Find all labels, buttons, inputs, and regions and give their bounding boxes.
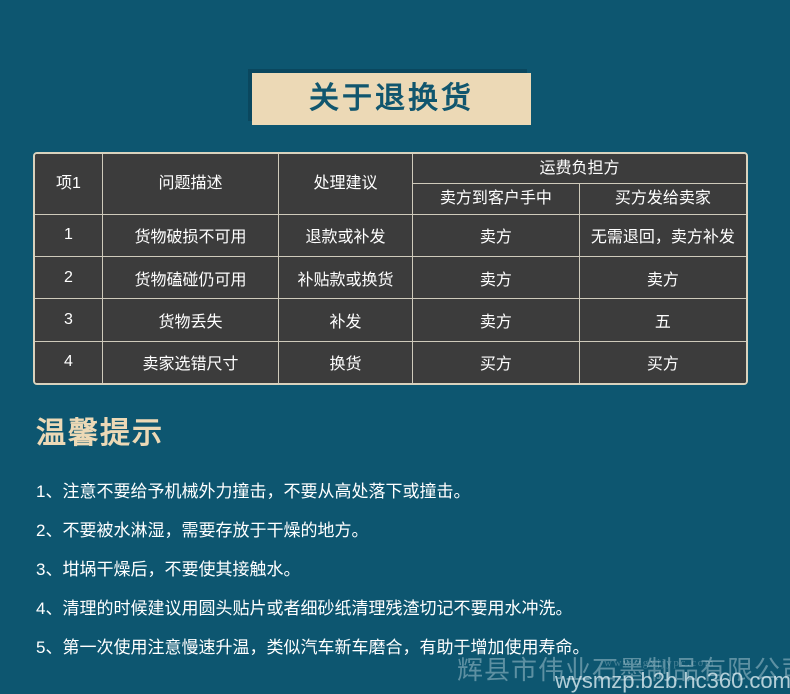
header-freight-responsibility: 运费负担方 [413, 154, 747, 184]
cell-freight-seller-to-customer: 卖方 [413, 299, 580, 341]
cell-problem: 卖家选错尺寸 [103, 341, 279, 383]
cell-index: 2 [35, 256, 103, 298]
tip-item: 4、清理的时候建议用圆头贴片或者细砂纸清理残渣切记不要用水冲洗。 [36, 589, 766, 628]
cell-problem: 货物丢失 [103, 299, 279, 341]
cell-index: 1 [35, 214, 103, 256]
tips-heading: 温馨提示 [36, 408, 164, 452]
tip-item: 5、第一次使用注意慢速升温，类似汽车新车磨合，有助于增加使用寿命。 [36, 628, 766, 667]
header-seller-to-customer: 卖方到客户手中 [413, 184, 580, 214]
page-title-banner: 关于退换货 [252, 73, 531, 125]
returns-policy-table: 项1 问题描述 处理建议 运费负担方 卖方到客户手中 买方发给卖家 1 货物破损… [33, 152, 748, 385]
tip-item: 2、不要被水淋湿，需要存放于干燥的地方。 [36, 511, 766, 550]
cell-suggestion: 换货 [279, 341, 413, 383]
table-row: 4 卖家选错尺寸 换货 买方 买方 [35, 341, 746, 383]
tip-item: 1、注意不要给予机械外力撞击，不要从高处落下或撞击。 [36, 472, 766, 511]
header-item-number: 项1 [35, 154, 103, 214]
cell-problem: 货物磕碰仍可用 [103, 256, 279, 298]
table-row: 2 货物磕碰仍可用 补贴款或换货 卖方 卖方 [35, 256, 746, 298]
cell-problem: 货物破损不可用 [103, 214, 279, 256]
table-header-row-group: 项1 问题描述 处理建议 运费负担方 [35, 154, 746, 184]
cell-freight-seller-to-customer: 卖方 [413, 256, 580, 298]
watermark-primary-url: wysmzp.b2b.hc360.com [555, 668, 790, 694]
cell-suggestion: 补发 [279, 299, 413, 341]
header-problem-description: 问题描述 [103, 154, 279, 214]
cell-index: 3 [35, 299, 103, 341]
cell-freight-buyer-to-seller: 五 [579, 299, 746, 341]
table-row: 1 货物破损不可用 退款或补发 卖方 无需退回，卖方补发 [35, 214, 746, 256]
header-handling-suggestion: 处理建议 [279, 154, 413, 214]
tips-list: 1、注意不要给予机械外力撞击，不要从高处落下或撞击。 2、不要被水淋湿，需要存放… [36, 472, 766, 667]
cell-suggestion: 退款或补发 [279, 214, 413, 256]
cell-suggestion: 补贴款或换货 [279, 256, 413, 298]
cell-index: 4 [35, 341, 103, 383]
cell-freight-buyer-to-seller: 无需退回，卖方补发 [579, 214, 746, 256]
table-row: 3 货物丢失 补发 卖方 五 [35, 299, 746, 341]
cell-freight-buyer-to-seller: 卖方 [579, 256, 746, 298]
header-buyer-to-seller: 买方发给卖家 [579, 184, 746, 214]
cell-freight-seller-to-customer: 卖方 [413, 214, 580, 256]
cell-freight-seller-to-customer: 买方 [413, 341, 580, 383]
cell-freight-buyer-to-seller: 买方 [579, 341, 746, 383]
tip-item: 3、坩埚干燥后，不要使其接触水。 [36, 550, 766, 589]
banner-box: 关于退换货 [252, 73, 531, 125]
page-title: 关于退换货 [309, 84, 474, 114]
